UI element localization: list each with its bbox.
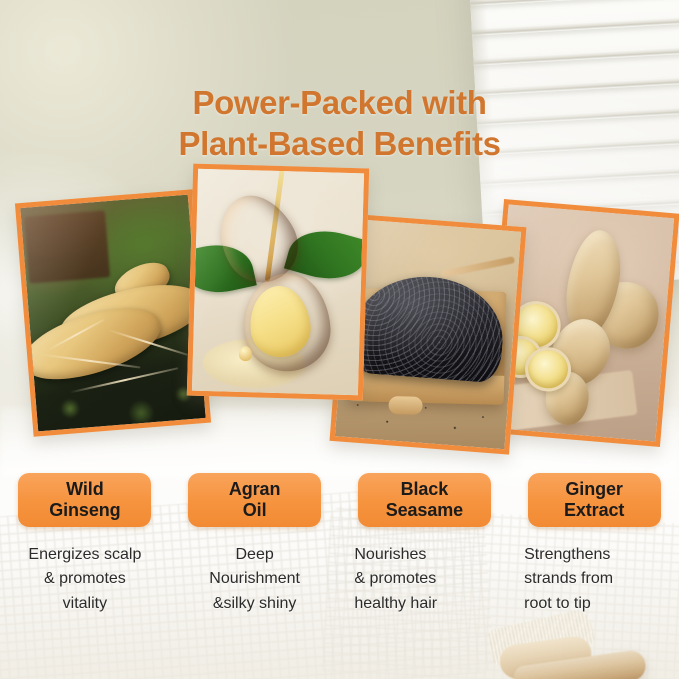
ginseng-root-photo [20,195,205,432]
ingredient-pill-black-seasame[interactable]: Black Seasame [358,473,491,527]
ingredient-description-row: Energizes scalp & promotes vitality Deep… [0,543,679,616]
argan-nut-oil-photo [192,169,364,396]
ingredient-label-row: Wild Ginseng Agran Oil Black Seasame Gin… [0,473,679,528]
ingredient-description-agran-oil: Deep Nourishment &silky shiny [185,543,325,616]
ingredient-pill-ginger-extract[interactable]: Ginger Extract [528,473,661,527]
ingredient-pill-wild-ginseng[interactable]: Wild Ginseng [18,473,151,527]
ingredient-description-ginger-extract: Strengthens strands from root to tip [524,543,664,616]
ingredient-description-wild-ginseng: Energizes scalp & promotes vitality [15,543,155,616]
ingredient-description-black-seasame: Nourishes & promotes healthy hair [354,543,494,616]
product-benefits-infographic: Power-Packed with Plant-Based Benefits [0,0,679,679]
photo-tile-agran-oil [187,164,369,401]
photo-tile-wild-ginseng [15,189,211,437]
ingredient-photo-collage [0,0,679,460]
ingredient-pill-agran-oil[interactable]: Agran Oil [188,473,321,527]
